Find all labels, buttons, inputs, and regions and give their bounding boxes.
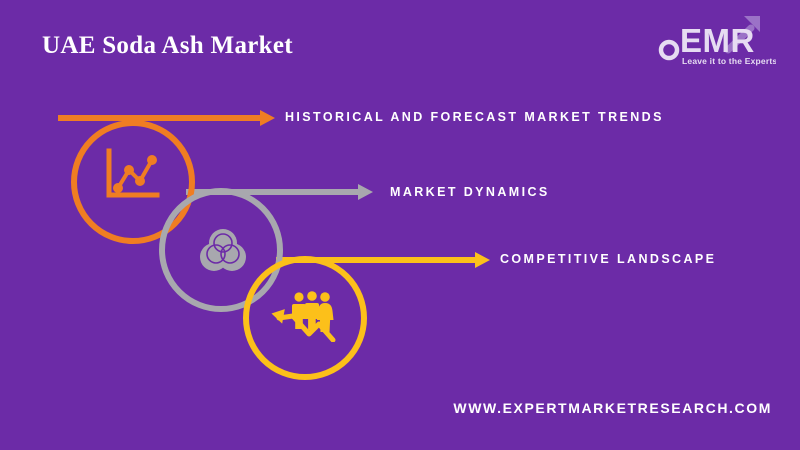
logo-tagline: Leave it to the Experts! [682, 56, 776, 66]
pillar-label-competitive-landscape: COMPETITIVE LANDSCAPE [500, 252, 716, 266]
infographic-slide: UAE Soda Ash Market EMR Leave it to the … [0, 0, 800, 450]
logo-circle-icon [661, 42, 677, 58]
pillar-label-market-dynamics: MARKET DYNAMICS [390, 185, 550, 199]
logo-wordmark: EMR [680, 22, 755, 59]
people-growth-icon [271, 288, 337, 342]
page-title: UAE Soda Ash Market [42, 32, 293, 60]
line-chart-icon [104, 148, 162, 200]
connector-arrow-historical-forecast [58, 110, 275, 126]
footer-website-url[interactable]: WWW.EXPERTMARKETRESEARCH.COM [453, 400, 772, 416]
emr-logo[interactable]: EMR Leave it to the Experts! [656, 10, 776, 72]
pillar-label-historical-forecast: HISTORICAL AND FORECAST MARKET TRENDS [285, 110, 664, 124]
emr-logo-mark: EMR Leave it to the Experts! [656, 10, 776, 72]
venn-diagram-icon [198, 225, 248, 275]
